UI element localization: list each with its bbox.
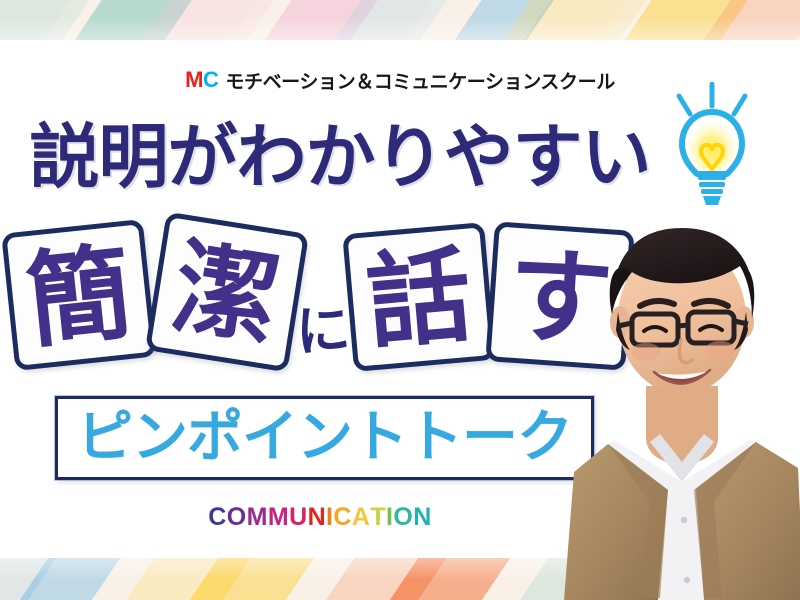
kanji-box-2: 潔 bbox=[145, 212, 309, 373]
communication-letter: C bbox=[333, 503, 351, 532]
mc-logo-letter-c: C bbox=[203, 67, 218, 92]
kanji-char-4: 話 bbox=[363, 243, 476, 356]
communication-letter: O bbox=[227, 503, 247, 532]
communication-wordmark: COMMUNICATION bbox=[0, 502, 640, 532]
communication-letter: N bbox=[413, 503, 431, 532]
communication-letter: O bbox=[393, 503, 413, 532]
communication-letter: A bbox=[352, 503, 370, 532]
communication-letter: I bbox=[386, 503, 393, 532]
presenter-photo bbox=[554, 190, 800, 600]
kanji-char-3: に bbox=[294, 302, 352, 360]
kanji-char-1: 簡 bbox=[22, 240, 136, 354]
communication-letter: M bbox=[268, 503, 289, 532]
poster-canvas: MC モチベーション＆コミュニケーションスクール 説明がわかりやすい 簡 潔 に… bbox=[0, 0, 800, 600]
kanji-char-2: 潔 bbox=[167, 234, 286, 353]
kanji-box-4: 話 bbox=[342, 222, 495, 372]
kanji-box-row: 簡 潔 に 話 す bbox=[0, 208, 640, 368]
mc-logo: MC bbox=[185, 67, 218, 93]
page-title: 説明がわかりやすい bbox=[0, 108, 680, 194]
subtitle-text: ピンポイントトーク bbox=[77, 410, 572, 466]
school-name: モチベーション＆コミュニケーションスクール bbox=[225, 67, 614, 94]
communication-letter: U bbox=[289, 503, 307, 532]
communication-letter: N bbox=[308, 503, 326, 532]
subtitle-box: ピンポイントトーク bbox=[55, 396, 594, 480]
communication-letter: I bbox=[326, 503, 333, 532]
communication-letter: C bbox=[208, 503, 226, 532]
communication-letter: T bbox=[370, 503, 386, 532]
kanji-box-1: 簡 bbox=[1, 219, 157, 371]
communication-letter: M bbox=[247, 503, 268, 532]
brand-line: MC モチベーション＆コミュニケーションスクール bbox=[0, 66, 800, 94]
mc-logo-letter-m: M bbox=[185, 67, 203, 92]
